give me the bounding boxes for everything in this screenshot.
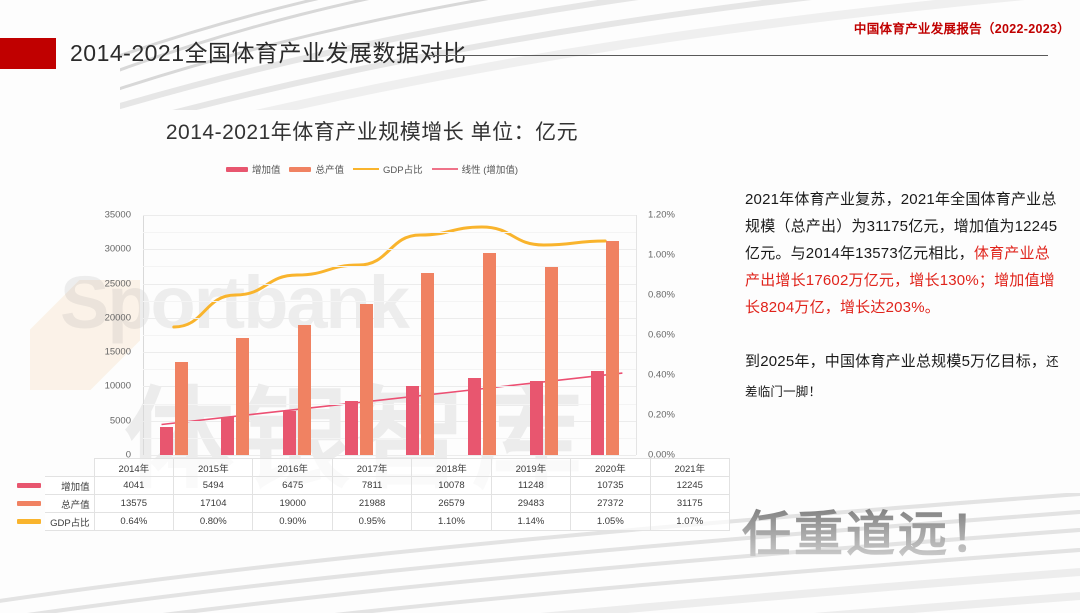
- table-cell: 0.80%: [174, 513, 253, 531]
- right-text-panel: 2021年体育产业复苏，2021年全国体育产业总规模（总产出）为31175亿元，…: [745, 186, 1065, 407]
- y-axis-right: 0.00%0.20%0.40%0.60%0.80%1.00%1.20%: [638, 205, 728, 465]
- table-cell: 10735: [571, 477, 650, 495]
- y-tick-right: 1.00%: [648, 250, 675, 261]
- bar-total: [360, 304, 373, 455]
- y-tick-left: 35000: [105, 210, 131, 221]
- bar-group: [574, 215, 636, 455]
- y-axis-left: 05000100001500020000250003000035000: [14, 205, 139, 465]
- legend-item-trendline: 线性 (增加值): [432, 162, 518, 176]
- header-divider-line: [428, 55, 1048, 56]
- bar-group: [513, 215, 575, 455]
- goal-paragraph: 到2025年，中国体育产业总规模5万亿目标，还差临门一脚！: [745, 347, 1065, 407]
- legend-label-total: 总产值: [315, 162, 344, 176]
- page-title: 2014-2021全国体育产业发展数据对比: [70, 36, 467, 70]
- legend-label-increment: 增加值: [252, 162, 281, 176]
- table-cell: 1.07%: [650, 513, 729, 531]
- table-cell: 6475: [253, 477, 332, 495]
- y-tick-left: 20000: [105, 312, 131, 323]
- table-cell: 19000: [253, 495, 332, 513]
- table-cell: 31175: [650, 495, 729, 513]
- legend-item-increment: 增加值: [226, 162, 281, 176]
- bar-increment: [160, 427, 173, 455]
- bar-group: [451, 215, 513, 455]
- y-tick-left: 30000: [105, 244, 131, 255]
- chart-title: 2014-2021年体育产业规模增长 单位：亿元: [14, 110, 730, 146]
- table-header-cell: 2020年: [571, 459, 650, 477]
- slide-header: 2014-2021全国体育产业发展数据对比: [0, 36, 1080, 70]
- table-row: 总产值1357517104190002198826579294832737231…: [14, 495, 730, 513]
- table-cell: 0.95%: [332, 513, 411, 531]
- table-row-label: 总产值: [45, 495, 94, 513]
- table-header-row: 2014年2015年2016年2017年2018年2019年2020年2021年: [14, 459, 730, 477]
- table-cell: 10078: [412, 477, 491, 495]
- summary-paragraph: 2021年体育产业复苏，2021年全国体育产业总规模（总产出）为31175亿元，…: [745, 186, 1065, 321]
- table-series-swatch: [14, 477, 45, 495]
- table-header-cell: 2017年: [332, 459, 411, 477]
- table-cell: 1.14%: [491, 513, 570, 531]
- legend-swatch-total: [289, 167, 311, 172]
- y-tick-right: 1.20%: [648, 210, 675, 221]
- gridline: [143, 455, 636, 456]
- bar-increment: [283, 411, 296, 455]
- bar-group: [143, 215, 205, 455]
- table-cell: 7811: [332, 477, 411, 495]
- bar-total: [175, 362, 188, 455]
- table-cell: 1.10%: [412, 513, 491, 531]
- table-row-label: GDP占比: [45, 513, 94, 531]
- chart-plot-area: [143, 215, 636, 455]
- table-cell: 17104: [174, 495, 253, 513]
- bar-total: [606, 241, 619, 455]
- bar-increment: [468, 378, 481, 455]
- legend-label-trendline: 线性 (增加值): [462, 162, 518, 176]
- y-tick-right: 0.20%: [648, 410, 675, 421]
- table-row: GDP占比0.64%0.80%0.90%0.95%1.10%1.14%1.05%…: [14, 513, 730, 531]
- table-cell: 12245: [650, 477, 729, 495]
- legend-line-trendline: [432, 168, 458, 170]
- y-tick-left: 5000: [110, 415, 131, 426]
- legend-line-gdp-share: [353, 168, 379, 171]
- bar-increment: [530, 381, 543, 455]
- chart-legend: 增加值 总产值 GDP占比 线性 (增加值): [14, 162, 730, 176]
- legend-label-gdp-share: GDP占比: [383, 162, 423, 176]
- table-cell: 27372: [571, 495, 650, 513]
- chart-data-table: 2014年2015年2016年2017年2018年2019年2020年2021年…: [14, 458, 730, 531]
- table-cell: 4041: [94, 477, 173, 495]
- bar-group: [390, 215, 452, 455]
- bar-total: [236, 338, 249, 455]
- report-label: 中国体育产业发展报告（2022-2023）: [854, 18, 1070, 37]
- bar-total: [298, 325, 311, 455]
- y-tick-left: 15000: [105, 347, 131, 358]
- slide-canvas: 2014-2021全国体育产业发展数据对比 中国体育产业发展报告（2022-20…: [0, 0, 1080, 613]
- y-tick-right: 0.60%: [648, 330, 675, 341]
- y-tick-left: 25000: [105, 278, 131, 289]
- chart-plot-wrapper: 05000100001500020000250003000035000 0.00…: [14, 205, 730, 455]
- table-header-cell: 2018年: [412, 459, 491, 477]
- y-tick-left: 10000: [105, 381, 131, 392]
- table-series-swatch: [14, 513, 45, 531]
- table-corner-cell: [45, 459, 94, 477]
- bar-increment: [345, 401, 358, 455]
- table-cell: 1.05%: [571, 513, 650, 531]
- legend-swatch-increment: [226, 167, 248, 172]
- legend-item-gdp-share: GDP占比: [353, 162, 423, 176]
- bar-group: [328, 215, 390, 455]
- table-cell: 0.64%: [94, 513, 173, 531]
- table-cell: 29483: [491, 495, 570, 513]
- table-series-swatch: [14, 495, 45, 513]
- table-row: 增加值404154946475781110078112481073512245: [14, 477, 730, 495]
- bar-increment: [221, 417, 234, 455]
- bar-group: [266, 215, 328, 455]
- bar-total: [483, 253, 496, 455]
- y-tick-right: 0.80%: [648, 290, 675, 301]
- table-cell: 5494: [174, 477, 253, 495]
- goal-main-text: 到2025年，中国体育产业总规模5万亿目标，: [745, 353, 1046, 370]
- slogan-text: 任重道远！: [742, 495, 1072, 566]
- legend-item-total: 总产值: [289, 162, 344, 176]
- bar-increment: [591, 371, 604, 455]
- table-header-cell: 2014年: [94, 459, 173, 477]
- table-header-cell: 2016年: [253, 459, 332, 477]
- table-cell: 21988: [332, 495, 411, 513]
- bar-group: [205, 215, 267, 455]
- table-header-cell: 2015年: [174, 459, 253, 477]
- y-tick-right: 0.40%: [648, 370, 675, 381]
- table-row-label: 增加值: [45, 477, 94, 495]
- table-corner-cell: [14, 459, 45, 477]
- table-header-cell: 2021年: [650, 459, 729, 477]
- bar-total: [421, 273, 434, 455]
- table-cell: 26579: [412, 495, 491, 513]
- bar-total: [545, 267, 558, 455]
- table-cell: 13575: [94, 495, 173, 513]
- table-cell: 0.90%: [253, 513, 332, 531]
- plot-right-border: [636, 215, 637, 455]
- bar-increment: [406, 386, 419, 455]
- header-accent-block: [0, 38, 56, 69]
- table-header-cell: 2019年: [491, 459, 570, 477]
- table-cell: 11248: [491, 477, 570, 495]
